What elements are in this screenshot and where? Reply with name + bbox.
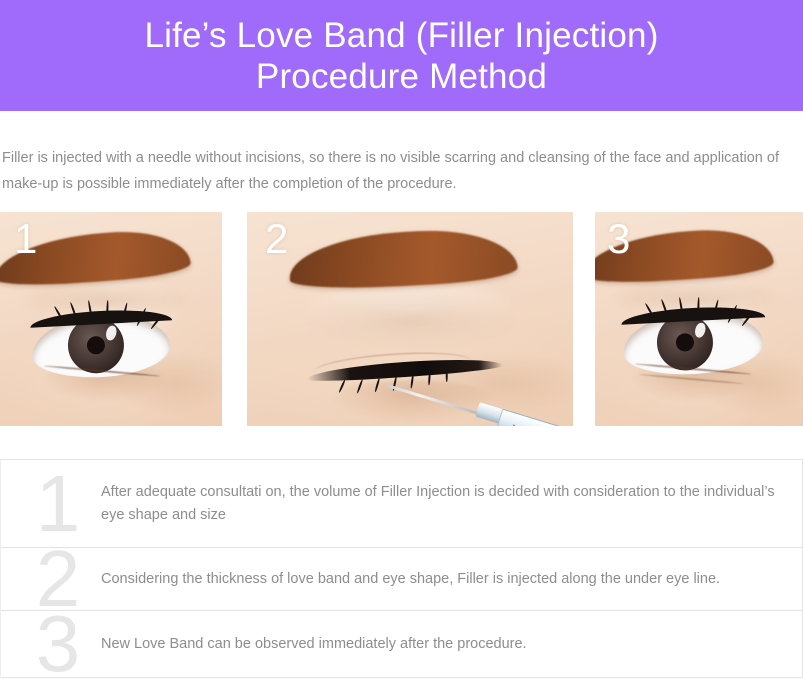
panel-number-2: 2 xyxy=(265,216,288,262)
procedure-image-3: 3 xyxy=(595,212,803,426)
procedure-image-strip: 1 2 xyxy=(0,212,803,426)
pupil xyxy=(676,333,695,352)
panel-number-1: 1 xyxy=(14,216,37,262)
step-row: 3 New Love Band can be observed immediat… xyxy=(1,611,802,678)
pupil xyxy=(87,336,106,355)
step-description: After adequate consultati on, the volume… xyxy=(1,481,802,527)
step-row: 1 After adequate consultati on, the volu… xyxy=(1,460,802,548)
panel-gap xyxy=(573,212,595,426)
syringe-needle xyxy=(387,384,480,415)
eye-glint xyxy=(104,324,117,341)
panel-gap xyxy=(222,212,247,426)
eye-glint xyxy=(693,322,706,339)
syringe-barrel xyxy=(496,409,573,426)
procedure-image-2: 2 xyxy=(247,212,573,426)
procedure-steps-list: 1 After adequate consultati on, the volu… xyxy=(0,459,803,678)
procedure-image-1: 1 xyxy=(0,212,222,426)
intro-paragraph: Filler is injected with a needle without… xyxy=(0,111,803,197)
step-description: New Love Band can be observed immediatel… xyxy=(1,633,551,656)
panel-number-3: 3 xyxy=(607,216,630,262)
page-header: Life’s Love Band (Filler Injection) Proc… xyxy=(0,0,803,111)
syringe-icon xyxy=(387,380,573,426)
eyelid-crease xyxy=(307,290,517,350)
step-row: 2 Considering the thickness of love band… xyxy=(1,548,802,611)
step-description: Considering the thickness of love band a… xyxy=(1,568,744,591)
page-title: Life’s Love Band (Filler Injection) Proc… xyxy=(144,15,658,97)
